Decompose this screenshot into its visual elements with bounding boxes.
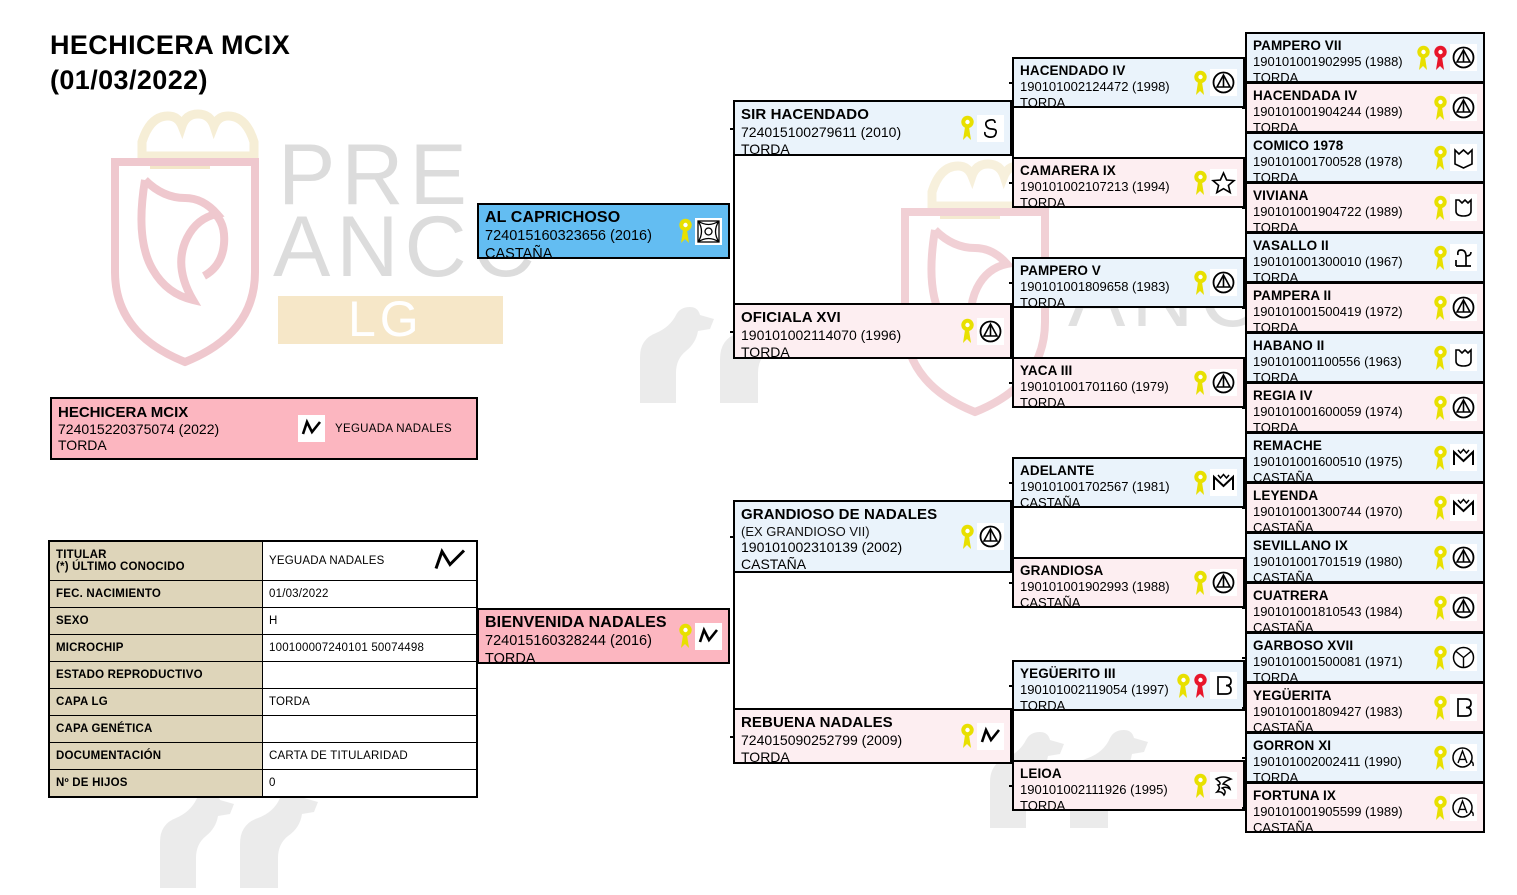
horse-name: HACENDADO IV — [1020, 63, 1191, 79]
horse-name: VIVIANA — [1253, 188, 1431, 204]
rosette-yellow-icon — [960, 723, 975, 749]
connector-stub — [1242, 157, 1247, 159]
horse-marks — [958, 115, 1010, 142]
horse-id: 190101001904244 (1989) — [1253, 104, 1431, 120]
gen3-box-8[interactable]: LEIOA190101002111926 (1995)TORDA — [1012, 760, 1245, 811]
connector-stub — [1242, 307, 1247, 309]
horse-marks — [1191, 369, 1243, 396]
horse-marks — [1431, 544, 1483, 571]
horse-capa: TORDA — [1020, 295, 1191, 311]
horse-capa: TORDA — [741, 749, 958, 766]
gen4-box-4[interactable]: VIVIANA190101001904722 (1989)TORDA — [1245, 182, 1485, 233]
rosette-yellow-icon — [1433, 645, 1448, 671]
details-key: SEXO — [49, 608, 263, 635]
node-text: COMICO 1978190101001700528 (1978)TORDA — [1247, 134, 1431, 189]
horse-name: LEIOA — [1020, 766, 1191, 782]
horse-name: GRANDIOSO DE NADALES — [741, 506, 958, 524]
horse-name: COMICO 1978 — [1253, 138, 1431, 154]
circle-triangle-brand-icon — [1210, 569, 1237, 596]
horse-id: 190101002107213 (1994) — [1020, 179, 1191, 195]
connector-stub — [1242, 207, 1247, 209]
connector-stub — [730, 128, 735, 130]
horse-marks — [1431, 694, 1483, 721]
horse-capa: TORDA — [1020, 195, 1191, 211]
horse-name: PAMPERO V — [1020, 263, 1191, 279]
connector-stub — [1009, 785, 1014, 787]
horse-id: 190101001300010 (1967) — [1253, 254, 1431, 270]
horse-id: 190101002310139 (2002) — [741, 539, 958, 556]
gen4-box-7[interactable]: HABANO II190101001100556 (1963)TORDA — [1245, 332, 1485, 383]
node-text: REBUENA NADALES724015090252799 (2009)TOR… — [735, 710, 958, 769]
horse-capa: TORDA — [1020, 95, 1191, 111]
horse-marks — [1431, 194, 1483, 221]
circle-triangle-brand-icon — [977, 318, 1004, 345]
horse-name: SIR HACENDADO — [741, 106, 958, 124]
circle-triangle-brand-icon — [1450, 394, 1477, 421]
details-row: ESTADO REPRODUCTIVO — [49, 662, 477, 689]
gen2-box-4[interactable]: REBUENA NADALES724015090252799 (2009)TOR… — [733, 708, 1012, 764]
connector-stub — [1009, 482, 1014, 484]
horse-marks — [676, 218, 728, 245]
gen4-box-5[interactable]: VASALLO II190101001300010 (1967)TORDA — [1245, 232, 1485, 283]
circle-triangle-brand-icon — [1450, 94, 1477, 121]
horse-marks — [958, 523, 1010, 550]
gen3-box-7[interactable]: YEGÜERITO III190101002119054 (1997)TORDA — [1012, 660, 1245, 711]
rosette-yellow-icon — [960, 524, 975, 550]
rosette-yellow-icon — [1433, 295, 1448, 321]
rosette-yellow-icon — [1433, 595, 1448, 621]
connector-stub — [1242, 657, 1247, 659]
nadales-zigzag-brand-icon — [977, 723, 1004, 750]
horse-alias: (EX GRANDIOSO VII) — [741, 524, 958, 540]
node-text: YEGÜERITA190101001809427 (1983)CASTAÑA — [1247, 684, 1431, 739]
node-text: YEGÜERITO III190101002119054 (1997)TORDA — [1014, 662, 1174, 717]
rosette-yellow-icon — [1433, 395, 1448, 421]
horse-name: REBUENA NADALES — [741, 714, 958, 732]
horse-marks — [1431, 244, 1483, 271]
node-text: GORRON XI190101002002411 (1990)TORDA — [1247, 734, 1431, 789]
horse-name: YACA III — [1020, 363, 1191, 379]
horse-marks — [958, 318, 1010, 345]
horse-marks — [1191, 772, 1243, 799]
horse-marks — [1431, 144, 1483, 171]
horse-name: HACENDADA IV — [1253, 88, 1431, 104]
knot-medallion-brand-icon — [695, 218, 722, 245]
horse-id: 190101001902995 (1988) — [1253, 54, 1414, 70]
horse-name: HABANO II — [1253, 338, 1431, 354]
horse-name: CUATRERA — [1253, 588, 1431, 604]
horse-name: REMACHE — [1253, 438, 1431, 454]
details-value — [263, 662, 478, 689]
horse-id: 190101002124472 (1998) — [1020, 79, 1191, 95]
horse-id: 190101001701160 (1979) — [1020, 379, 1191, 395]
gen3-box-4[interactable]: YACA III190101001701160 (1979)TORDA — [1012, 357, 1245, 408]
crowned-m-brand-icon — [1450, 444, 1477, 471]
connector-stub — [1242, 757, 1247, 759]
details-value — [263, 716, 478, 743]
node-text: LEYENDA190101001300744 (1970)CASTAÑA — [1247, 484, 1431, 539]
watermark-text-pre: PRE — [278, 127, 473, 223]
horse-id: 190101002114070 (1996) — [741, 327, 958, 344]
bridle-brand-icon — [1210, 772, 1237, 799]
gen3-box-3[interactable]: PAMPERO V190101001809658 (1983)TORDA — [1012, 257, 1245, 308]
horse-id: 190101001701519 (1980) — [1253, 554, 1431, 570]
details-key: Nº DE HIJOS — [49, 770, 263, 798]
gen4-box-12[interactable]: CUATRERA190101001810543 (1984)CASTAÑA — [1245, 582, 1485, 633]
circle-triangle-brand-icon — [1450, 544, 1477, 571]
horse-marks — [1191, 169, 1243, 196]
horse-id: 724015090252799 (2009) — [741, 732, 958, 749]
shield-crown-brand-icon — [1450, 144, 1477, 171]
crowned-m-brand-icon — [1210, 469, 1237, 496]
circle-y-brand-icon — [1450, 644, 1477, 671]
node-text: PAMPERA II190101001500419 (1972)TORDA — [1247, 284, 1431, 339]
subject-capa: TORDA — [58, 437, 298, 453]
rosette-yellow-icon — [678, 218, 693, 244]
star-brand-icon — [1210, 169, 1237, 196]
horse-name: BIENVENIDA NADALES — [485, 614, 676, 633]
rosette-yellow-icon — [1433, 95, 1448, 121]
horse-marks — [1431, 744, 1483, 771]
horse-id: 190101001809427 (1983) — [1253, 704, 1431, 720]
hook-brand-icon — [1450, 244, 1477, 271]
details-value: 01/03/2022 — [263, 581, 478, 608]
subject-owner: YEGUADA NADALES — [335, 423, 452, 435]
connector-stub — [730, 736, 735, 738]
details-value: 100100007240101 50074498 — [263, 635, 478, 662]
horse-marks — [1431, 444, 1483, 471]
details-value: 0 — [263, 770, 478, 798]
rosette-yellow-icon — [1176, 673, 1191, 699]
connector-stub — [1009, 582, 1014, 584]
details-key: TITULAR (*) ÚLTIMO CONOCIDO — [49, 541, 263, 581]
node-text: SEVILLANO IX190101001701519 (1980)CASTAÑ… — [1247, 534, 1431, 589]
horse-name: GORRON XI — [1253, 738, 1431, 754]
node-text: YACA III190101001701160 (1979)TORDA — [1014, 359, 1191, 414]
details-tbody: TITULAR (*) ÚLTIMO CONOCIDOYEGUADA NADAL… — [49, 541, 477, 797]
horse-capa: CASTAÑA — [741, 556, 958, 573]
horse-capa: TORDA — [1020, 798, 1191, 814]
rosette-yellow-icon — [1433, 545, 1448, 571]
horse-capa: TORDA — [1020, 395, 1191, 411]
horse-name: GARBOSO XVII — [1253, 638, 1431, 654]
details-key: MICROCHIP — [49, 635, 263, 662]
horse-name: PAMPERA II — [1253, 288, 1431, 304]
details-row: TITULAR (*) ÚLTIMO CONOCIDOYEGUADA NADAL… — [49, 541, 477, 581]
connector-stub — [730, 331, 735, 333]
horse-marks — [1191, 269, 1243, 296]
connector-stub — [1242, 107, 1247, 109]
connector-stub — [1242, 407, 1247, 409]
node-text: AL CAPRICHOSO724015160323656 (2016)CASTA… — [479, 205, 676, 266]
subject-horse-box[interactable]: HECHICERA MCIX 724015220375074 (2022) TO… — [50, 397, 478, 460]
rosette-yellow-icon — [1193, 70, 1208, 96]
horse-id: 190101001500419 (1972) — [1253, 304, 1431, 320]
horse-marks — [1174, 672, 1243, 699]
gen4-box-14[interactable]: YEGÜERITA190101001809427 (1983)CASTAÑA — [1245, 682, 1485, 733]
subject-id: 724015220375074 (2022) — [58, 421, 298, 437]
connector-stub — [1009, 82, 1014, 84]
gen3-box-5[interactable]: ADELANTE190101001702567 (1981)CASTAÑA — [1012, 457, 1245, 508]
horse-marks — [1191, 569, 1243, 596]
horse-marks — [1431, 594, 1483, 621]
circle-triangle-brand-icon — [1210, 269, 1237, 296]
horse-capa: TORDA — [741, 344, 958, 361]
gen4-box-9[interactable]: REMACHE190101001600510 (1975)CASTAÑA — [1245, 432, 1485, 483]
node-text: GRANDIOSO DE NADALES(EX GRANDIOSO VII)19… — [735, 502, 958, 576]
node-text: OFICIALA XVI190101002114070 (1996)TORDA — [735, 305, 958, 364]
node-text: GARBOSO XVII190101001500081 (1971)TORDA — [1247, 634, 1431, 689]
details-value: CARTA DE TITULARIDAD — [263, 743, 478, 770]
horse-name: ADELANTE — [1020, 463, 1191, 479]
nadales-zigzag-brand-icon — [298, 415, 325, 442]
details-value: TORDA — [263, 689, 478, 716]
horse-marks — [1414, 44, 1483, 71]
circle-triangle-brand-icon — [1210, 369, 1237, 396]
horse-capa: CASTAÑA — [1253, 820, 1431, 836]
dam-box[interactable]: BIENVENIDA NADALES724015160328244 (2016)… — [477, 608, 730, 664]
horse-name: PAMPERO VII — [1253, 38, 1414, 54]
rosette-yellow-icon — [1433, 745, 1448, 771]
details-value: YEGUADA NADALES — [263, 541, 478, 581]
rosette-yellow-icon — [1193, 470, 1208, 496]
connector-stub — [1009, 382, 1014, 384]
rosette-yellow-icon — [960, 318, 975, 344]
rosette-yellow-icon — [678, 623, 693, 649]
letter-b-brand-icon — [1210, 672, 1237, 699]
gen4-box-13[interactable]: GARBOSO XVII190101001500081 (1971)TORDA — [1245, 632, 1485, 683]
gen4-box-16[interactable]: FORTUNA IX190101001905599 (1989)CASTAÑA — [1245, 782, 1485, 833]
rosette-red-icon — [1433, 45, 1448, 71]
horse-marks — [676, 623, 728, 650]
node-text: FORTUNA IX190101001905599 (1989)CASTAÑA — [1247, 784, 1431, 839]
crowned-m-brand-icon — [1450, 494, 1477, 521]
connector-stub — [1242, 707, 1247, 709]
connector-stub — [1242, 257, 1247, 259]
page-title: HECHICERA MCIX (01/03/2022) — [50, 28, 290, 97]
horse-marks — [1191, 69, 1243, 96]
details-row: SEXOH — [49, 608, 477, 635]
gen4-box-15[interactable]: GORRON XI190101002002411 (1990)TORDA — [1245, 732, 1485, 783]
connector-stub — [730, 536, 735, 538]
connector-stub — [1242, 57, 1247, 59]
rosette-red-icon — [1193, 673, 1208, 699]
circle-a-brand-icon — [1450, 794, 1477, 821]
horse-name: REGIA IV — [1253, 388, 1431, 404]
nadales-zigzag-brand-icon — [430, 545, 470, 578]
horse-marks — [1191, 469, 1243, 496]
details-value: H — [263, 608, 478, 635]
node-text: REGIA IV190101001600059 (1974)TORDA — [1247, 384, 1431, 439]
horse-name: YEGÜERITO III — [1020, 666, 1174, 682]
rosette-yellow-icon — [1433, 695, 1448, 721]
details-row: CAPA GENÉTICA — [49, 716, 477, 743]
rosette-yellow-icon — [1193, 570, 1208, 596]
horse-id: 724015100279611 (2010) — [741, 124, 958, 141]
gen4-box-11[interactable]: SEVILLANO IX190101001701519 (1980)CASTAÑ… — [1245, 532, 1485, 583]
node-text: BIENVENIDA NADALES724015160328244 (2016)… — [479, 610, 676, 671]
details-key: ESTADO REPRODUCTIVO — [49, 662, 263, 689]
connector-stub — [1009, 182, 1014, 184]
rosette-yellow-icon — [1433, 345, 1448, 371]
horse-id: 190101001902993 (1988) — [1020, 579, 1191, 595]
node-text: HABANO II190101001100556 (1963)TORDA — [1247, 334, 1431, 389]
horse-id: 190101001905599 (1989) — [1253, 804, 1431, 820]
cup-brand-icon — [1450, 344, 1477, 371]
horse-marks — [1431, 494, 1483, 521]
horse-capa: TORDA — [485, 651, 676, 669]
connector-stub — [1242, 557, 1247, 559]
connector-stub — [1242, 457, 1247, 459]
horse-id: 190101001700528 (1978) — [1253, 154, 1431, 170]
letter-b-brand-icon — [1450, 694, 1477, 721]
details-key: FEC. NACIMIENTO — [49, 581, 263, 608]
gen3-box-6[interactable]: GRANDIOSA190101001902993 (1988)CASTAÑA — [1012, 557, 1245, 608]
horse-id: 724015160323656 (2016) — [485, 228, 676, 246]
horse-name: SEVILLANO IX — [1253, 538, 1431, 554]
gen3-box-2[interactable]: CAMARERA IX190101002107213 (1994)TORDA — [1012, 157, 1245, 208]
horse-id: 190101002002411 (1990) — [1253, 754, 1431, 770]
sire-box[interactable]: AL CAPRICHOSO724015160323656 (2016)CASTA… — [477, 203, 730, 259]
details-row: FEC. NACIMIENTO01/03/2022 — [49, 581, 477, 608]
circle-triangle-brand-icon — [1450, 294, 1477, 321]
watermark-text-lg: LG — [348, 291, 423, 347]
circle-triangle-brand-icon — [1450, 594, 1477, 621]
horse-id: 190101001810543 (1984) — [1253, 604, 1431, 620]
rosette-yellow-icon — [1193, 370, 1208, 396]
horse-capa: TORDA — [741, 141, 958, 158]
nadales-zigzag-brand-icon — [695, 623, 722, 650]
gen2-box-3[interactable]: GRANDIOSO DE NADALES(EX GRANDIOSO VII)19… — [733, 500, 1012, 573]
horse-name: GRANDIOSA — [1020, 563, 1191, 579]
details-row: DOCUMENTACIÓNCARTA DE TITULARIDAD — [49, 743, 477, 770]
gen4-box-10[interactable]: LEYENDA190101001300744 (1970)CASTAÑA — [1245, 482, 1485, 533]
connector-stub — [1009, 282, 1014, 284]
gen4-box-8[interactable]: REGIA IV190101001600059 (1974)TORDA — [1245, 382, 1485, 433]
node-text: PAMPERO VII190101001902995 (1988)TORDA — [1247, 34, 1414, 89]
ancce-watermark-logo: PRE ANCCE LG — [110, 100, 540, 400]
node-text: CAMARERA IX190101002107213 (1994)TORDA — [1014, 159, 1191, 214]
node-text: LEIOA190101002111926 (1995)TORDA — [1014, 762, 1191, 817]
horse-capa: TORDA — [1020, 698, 1174, 714]
horse-id: 190101001904722 (1989) — [1253, 204, 1431, 220]
rosette-yellow-icon — [1193, 773, 1208, 799]
script-s-brand-icon — [977, 115, 1004, 142]
node-text: PAMPERO V190101001809658 (1983)TORDA — [1014, 259, 1191, 314]
rosette-yellow-icon — [1433, 445, 1448, 471]
circle-triangle-brand-icon — [1210, 69, 1237, 96]
horse-name: FORTUNA IX — [1253, 788, 1431, 804]
node-text: ADELANTE190101001702567 (1981)CASTAÑA — [1014, 459, 1191, 514]
horse-id: 724015160328244 (2016) — [485, 633, 676, 651]
gen4-box-3[interactable]: COMICO 1978190101001700528 (1978)TORDA — [1245, 132, 1485, 183]
horse-id: 190101002119054 (1997) — [1020, 682, 1174, 698]
subject-name: HECHICERA MCIX — [58, 404, 298, 421]
gen4-box-2[interactable]: HACENDADA IV190101001904244 (1989)TORDA — [1245, 82, 1485, 133]
horse-name: LEYENDA — [1253, 488, 1431, 504]
details-row: Nº DE HIJOS0 — [49, 770, 477, 798]
horse-marks — [1431, 394, 1483, 421]
horse-capa: CASTAÑA — [1020, 595, 1191, 611]
connector-stub — [1242, 607, 1247, 609]
rosette-yellow-icon — [1433, 245, 1448, 271]
rosette-yellow-icon — [1433, 195, 1448, 221]
details-key: CAPA GENÉTICA — [49, 716, 263, 743]
details-key: DOCUMENTACIÓN — [49, 743, 263, 770]
rosette-yellow-icon — [1433, 145, 1448, 171]
horse-name: YEGÜERITA — [1253, 688, 1431, 704]
horse-id: 190101001500081 (1971) — [1253, 654, 1431, 670]
horse-id: 190101001100556 (1963) — [1253, 354, 1431, 370]
horse-marks — [1431, 294, 1483, 321]
rosette-yellow-icon — [1433, 795, 1448, 821]
rosette-yellow-icon — [1433, 495, 1448, 521]
horse-marks — [1431, 344, 1483, 371]
node-text: CUATRERA190101001810543 (1984)CASTAÑA — [1247, 584, 1431, 639]
horse-id: 190101001702567 (1981) — [1020, 479, 1191, 495]
rosette-yellow-icon — [1193, 170, 1208, 196]
details-key: CAPA LG — [49, 689, 263, 716]
connector-stub — [1242, 357, 1247, 359]
node-text: VASALLO II190101001300010 (1967)TORDA — [1247, 234, 1431, 289]
horse-name: VASALLO II — [1253, 238, 1431, 254]
circle-triangle-brand-icon — [977, 523, 1004, 550]
horse-marks — [1431, 94, 1483, 121]
horse-id: 190101001600510 (1975) — [1253, 454, 1431, 470]
horse-id: 190101001300744 (1970) — [1253, 504, 1431, 520]
rosette-yellow-icon — [1193, 270, 1208, 296]
rosette-yellow-icon — [960, 115, 975, 141]
gen2-box-2[interactable]: OFICIALA XVI190101002114070 (1996)TORDA — [733, 303, 1012, 359]
horse-capa: CASTAÑA — [485, 246, 676, 264]
gen4-box-6[interactable]: PAMPERA II190101001500419 (1972)TORDA — [1245, 282, 1485, 333]
details-row: CAPA LGTORDA — [49, 689, 477, 716]
connector-stub — [1009, 685, 1014, 687]
horse-marks — [958, 723, 1010, 750]
gen4-box-1[interactable]: PAMPERO VII190101001902995 (1988)TORDA — [1245, 32, 1485, 83]
node-text: HACENDADO IV190101002124472 (1998)TORDA — [1014, 59, 1191, 114]
node-text: REMACHE190101001600510 (1975)CASTAÑA — [1247, 434, 1431, 489]
horse-id: 190101001809658 (1983) — [1020, 279, 1191, 295]
node-text: VIVIANA190101001904722 (1989)TORDA — [1247, 184, 1431, 239]
horse-name: OFICIALA XVI — [741, 309, 958, 327]
node-text: SIR HACENDADO724015100279611 (2010)TORDA — [735, 102, 958, 161]
node-text: HACENDADA IV190101001904244 (1989)TORDA — [1247, 84, 1431, 139]
circle-a-brand-icon — [1450, 744, 1477, 771]
details-table: TITULAR (*) ÚLTIMO CONOCIDOYEGUADA NADAL… — [48, 540, 478, 798]
horse-name: AL CAPRICHOSO — [485, 209, 676, 228]
horse-id: 190101002111926 (1995) — [1020, 782, 1191, 798]
horse-marks — [1431, 794, 1483, 821]
connector-stub — [1242, 807, 1247, 809]
horse-id: 190101001600059 (1974) — [1253, 404, 1431, 420]
node-text: GRANDIOSA190101001902993 (1988)CASTAÑA — [1014, 559, 1191, 614]
horse-marks — [1431, 644, 1483, 671]
details-row: MICROCHIP100100007240101 50074498 — [49, 635, 477, 662]
cup-brand-icon — [1450, 194, 1477, 221]
connector-stub — [1242, 507, 1247, 509]
gen2-box-1[interactable]: SIR HACENDADO724015100279611 (2010)TORDA — [733, 100, 1012, 156]
circle-triangle-brand-icon — [1450, 44, 1477, 71]
horse-name: CAMARERA IX — [1020, 163, 1191, 179]
horse-capa: CASTAÑA — [1020, 495, 1191, 511]
rosette-yellow-icon — [1416, 45, 1431, 71]
gen3-box-1[interactable]: HACENDADO IV190101002124472 (1998)TORDA — [1012, 57, 1245, 108]
